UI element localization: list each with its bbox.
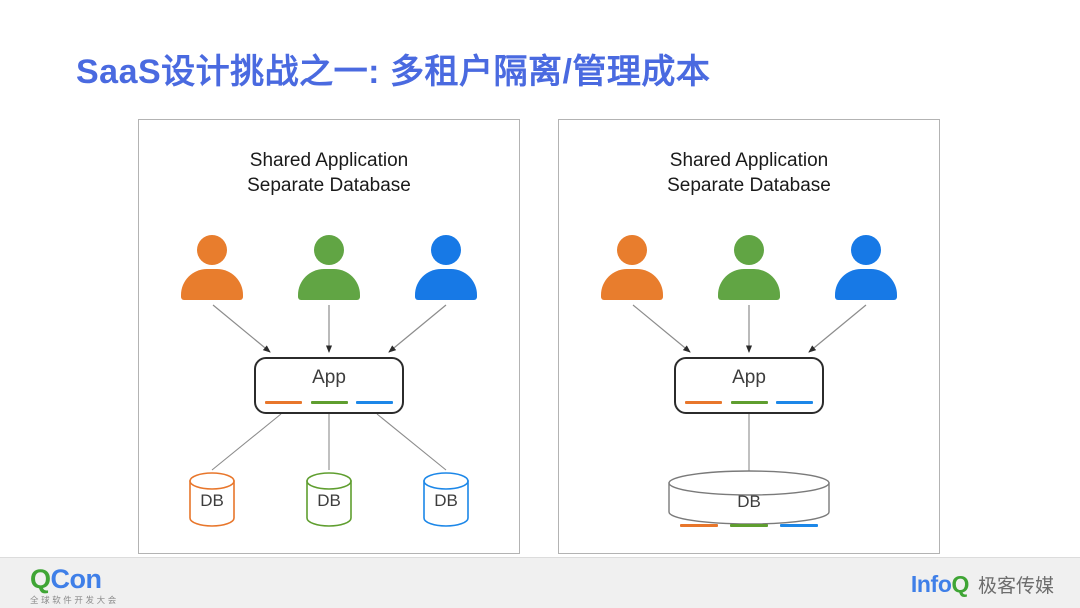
person-body-icon [298, 269, 360, 300]
person-body-icon [718, 269, 780, 300]
app-bar-orange [685, 401, 722, 404]
db-tenant-bars [680, 524, 818, 527]
infoq-letters-info: Info [911, 571, 952, 597]
panel-right-heading-line2: Separate Database [559, 173, 939, 198]
tenant-icon-green [298, 235, 360, 300]
person-head-icon [314, 235, 344, 265]
qcon-letter-q: Q [30, 564, 51, 594]
db-bar-orange [680, 524, 718, 527]
tenant-icon-orange [181, 235, 243, 300]
app-bar-blue [356, 401, 393, 404]
person-head-icon [431, 235, 461, 265]
panel-left-heading-line2: Separate Database [139, 173, 519, 198]
infoq-wordmark: InfoQ [911, 571, 969, 598]
app-box-right: App [674, 357, 824, 414]
infoq-logo: InfoQ 极客传媒 [911, 571, 1054, 598]
panel-right-heading: Shared Application Separate Database [559, 148, 939, 198]
person-head-icon [617, 235, 647, 265]
db-bar-blue [780, 524, 818, 527]
tenant-icon-blue [415, 235, 477, 300]
qcon-letters-con: Con [51, 564, 102, 594]
qcon-wordmark: QCon [30, 565, 119, 593]
app-box-left: App [254, 357, 404, 414]
person-body-icon [181, 269, 243, 300]
page-title: SaaS设计挑战之一: 多租户隔离/管理成本 [76, 44, 710, 93]
infoq-chinese-name: 极客传媒 [978, 571, 1054, 598]
db-label: DB [298, 491, 360, 511]
person-body-icon [601, 269, 663, 300]
app-bar-green [731, 401, 768, 404]
person-head-icon [851, 235, 881, 265]
footer-bar: QCon 全球软件开发大会 InfoQ 极客传媒 [0, 557, 1080, 608]
panel-right-heading-line1: Shared Application [670, 150, 828, 171]
db-label: DB [664, 492, 834, 512]
tenant-icon-blue-right [835, 235, 897, 300]
panel-left-heading-line1: Shared Application [250, 150, 408, 171]
tenant-icon-orange-right [601, 235, 663, 300]
app-label: App [676, 367, 822, 389]
db-green: DB [298, 477, 360, 529]
db-blue: DB [415, 477, 477, 529]
tenant-icon-green-right [718, 235, 780, 300]
qcon-logo: QCon 全球软件开发大会 [30, 565, 119, 606]
panel-left-heading: Shared Application Separate Database [139, 148, 519, 198]
person-body-icon [835, 269, 897, 300]
person-head-icon [197, 235, 227, 265]
db-bar-green [730, 524, 768, 527]
db-label: DB [181, 491, 243, 511]
person-head-icon [734, 235, 764, 265]
app-label: App [256, 367, 402, 389]
qcon-subtitle: 全球软件开发大会 [30, 594, 119, 606]
app-tenant-bars [685, 401, 813, 404]
app-tenant-bars [265, 401, 393, 404]
person-body-icon [415, 269, 477, 300]
db-shared: DB [664, 478, 834, 536]
app-bar-orange [265, 401, 302, 404]
app-bar-blue [776, 401, 813, 404]
app-bar-green [311, 401, 348, 404]
db-orange: DB [181, 477, 243, 529]
infoq-letter-q: Q [951, 571, 969, 597]
db-label: DB [415, 491, 477, 511]
